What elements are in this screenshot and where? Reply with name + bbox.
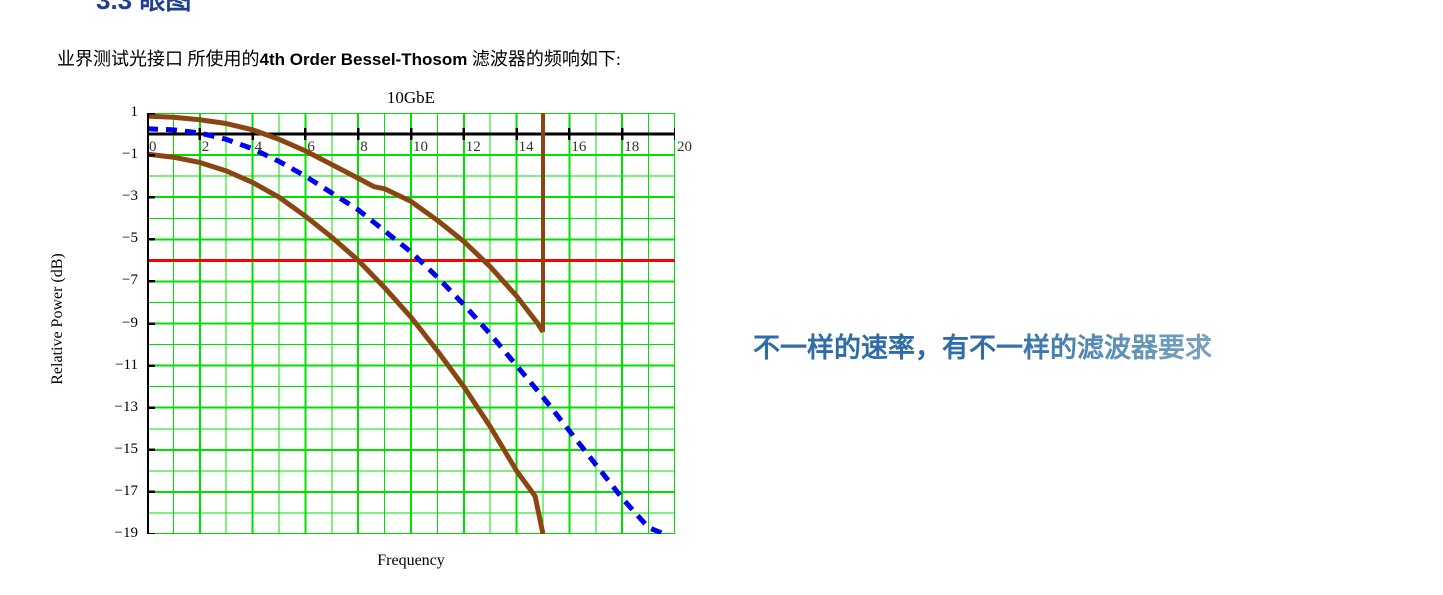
chart-canvas xyxy=(147,113,675,534)
x-tick-label: 8 xyxy=(360,139,368,156)
top-heading-clipped: 3.3 眼图 xyxy=(0,0,720,14)
y-tick-label: −15 xyxy=(0,441,138,458)
y-tick-label: −5 xyxy=(0,230,138,247)
y-tick-label: −11 xyxy=(0,357,138,374)
body-latin-term: 4th Order Bessel-Thosom xyxy=(260,50,468,69)
y-tick-label: −9 xyxy=(0,315,138,332)
chart-x-axis-label: Frequency xyxy=(147,552,675,570)
x-tick-label: 14 xyxy=(519,139,534,156)
top-heading-text: 3.3 眼图 xyxy=(96,0,191,14)
x-tick-label: 16 xyxy=(571,139,586,156)
body-suffix: 滤波器的频响如下: xyxy=(467,49,621,69)
body-prefix: 业界测试光接口 所使用的 xyxy=(57,49,260,69)
y-tick-label: −13 xyxy=(0,399,138,416)
chart-title: 10GbE xyxy=(147,88,675,108)
y-tick-label: −1 xyxy=(0,146,138,163)
x-tick-label: 10 xyxy=(413,139,428,156)
x-tick-label: 20 xyxy=(677,139,692,156)
x-tick-label: 12 xyxy=(466,139,481,156)
x-tick-label: 18 xyxy=(624,139,639,156)
y-tick-label: −17 xyxy=(0,483,138,500)
y-tick-label: −3 xyxy=(0,188,138,205)
slogan-text: 不一样的速率，有不一样的滤波器要求 xyxy=(753,326,1212,365)
body-paragraph: 业界测试光接口 所使用的4th Order Bessel-Thosom 滤波器的… xyxy=(57,45,621,71)
x-tick-label: 0 xyxy=(149,139,157,156)
x-tick-label: 6 xyxy=(307,139,315,156)
chart-plot-area xyxy=(147,113,675,534)
y-tick-label: −7 xyxy=(0,272,138,289)
y-tick-label: 1 xyxy=(0,104,138,121)
frequency-response-chart: 10GbE Relative Power (dB) Frequency 1−1−… xyxy=(0,80,720,580)
y-tick-label: −19 xyxy=(0,525,138,542)
x-tick-label: 4 xyxy=(255,139,263,156)
x-tick-label: 2 xyxy=(202,139,210,156)
